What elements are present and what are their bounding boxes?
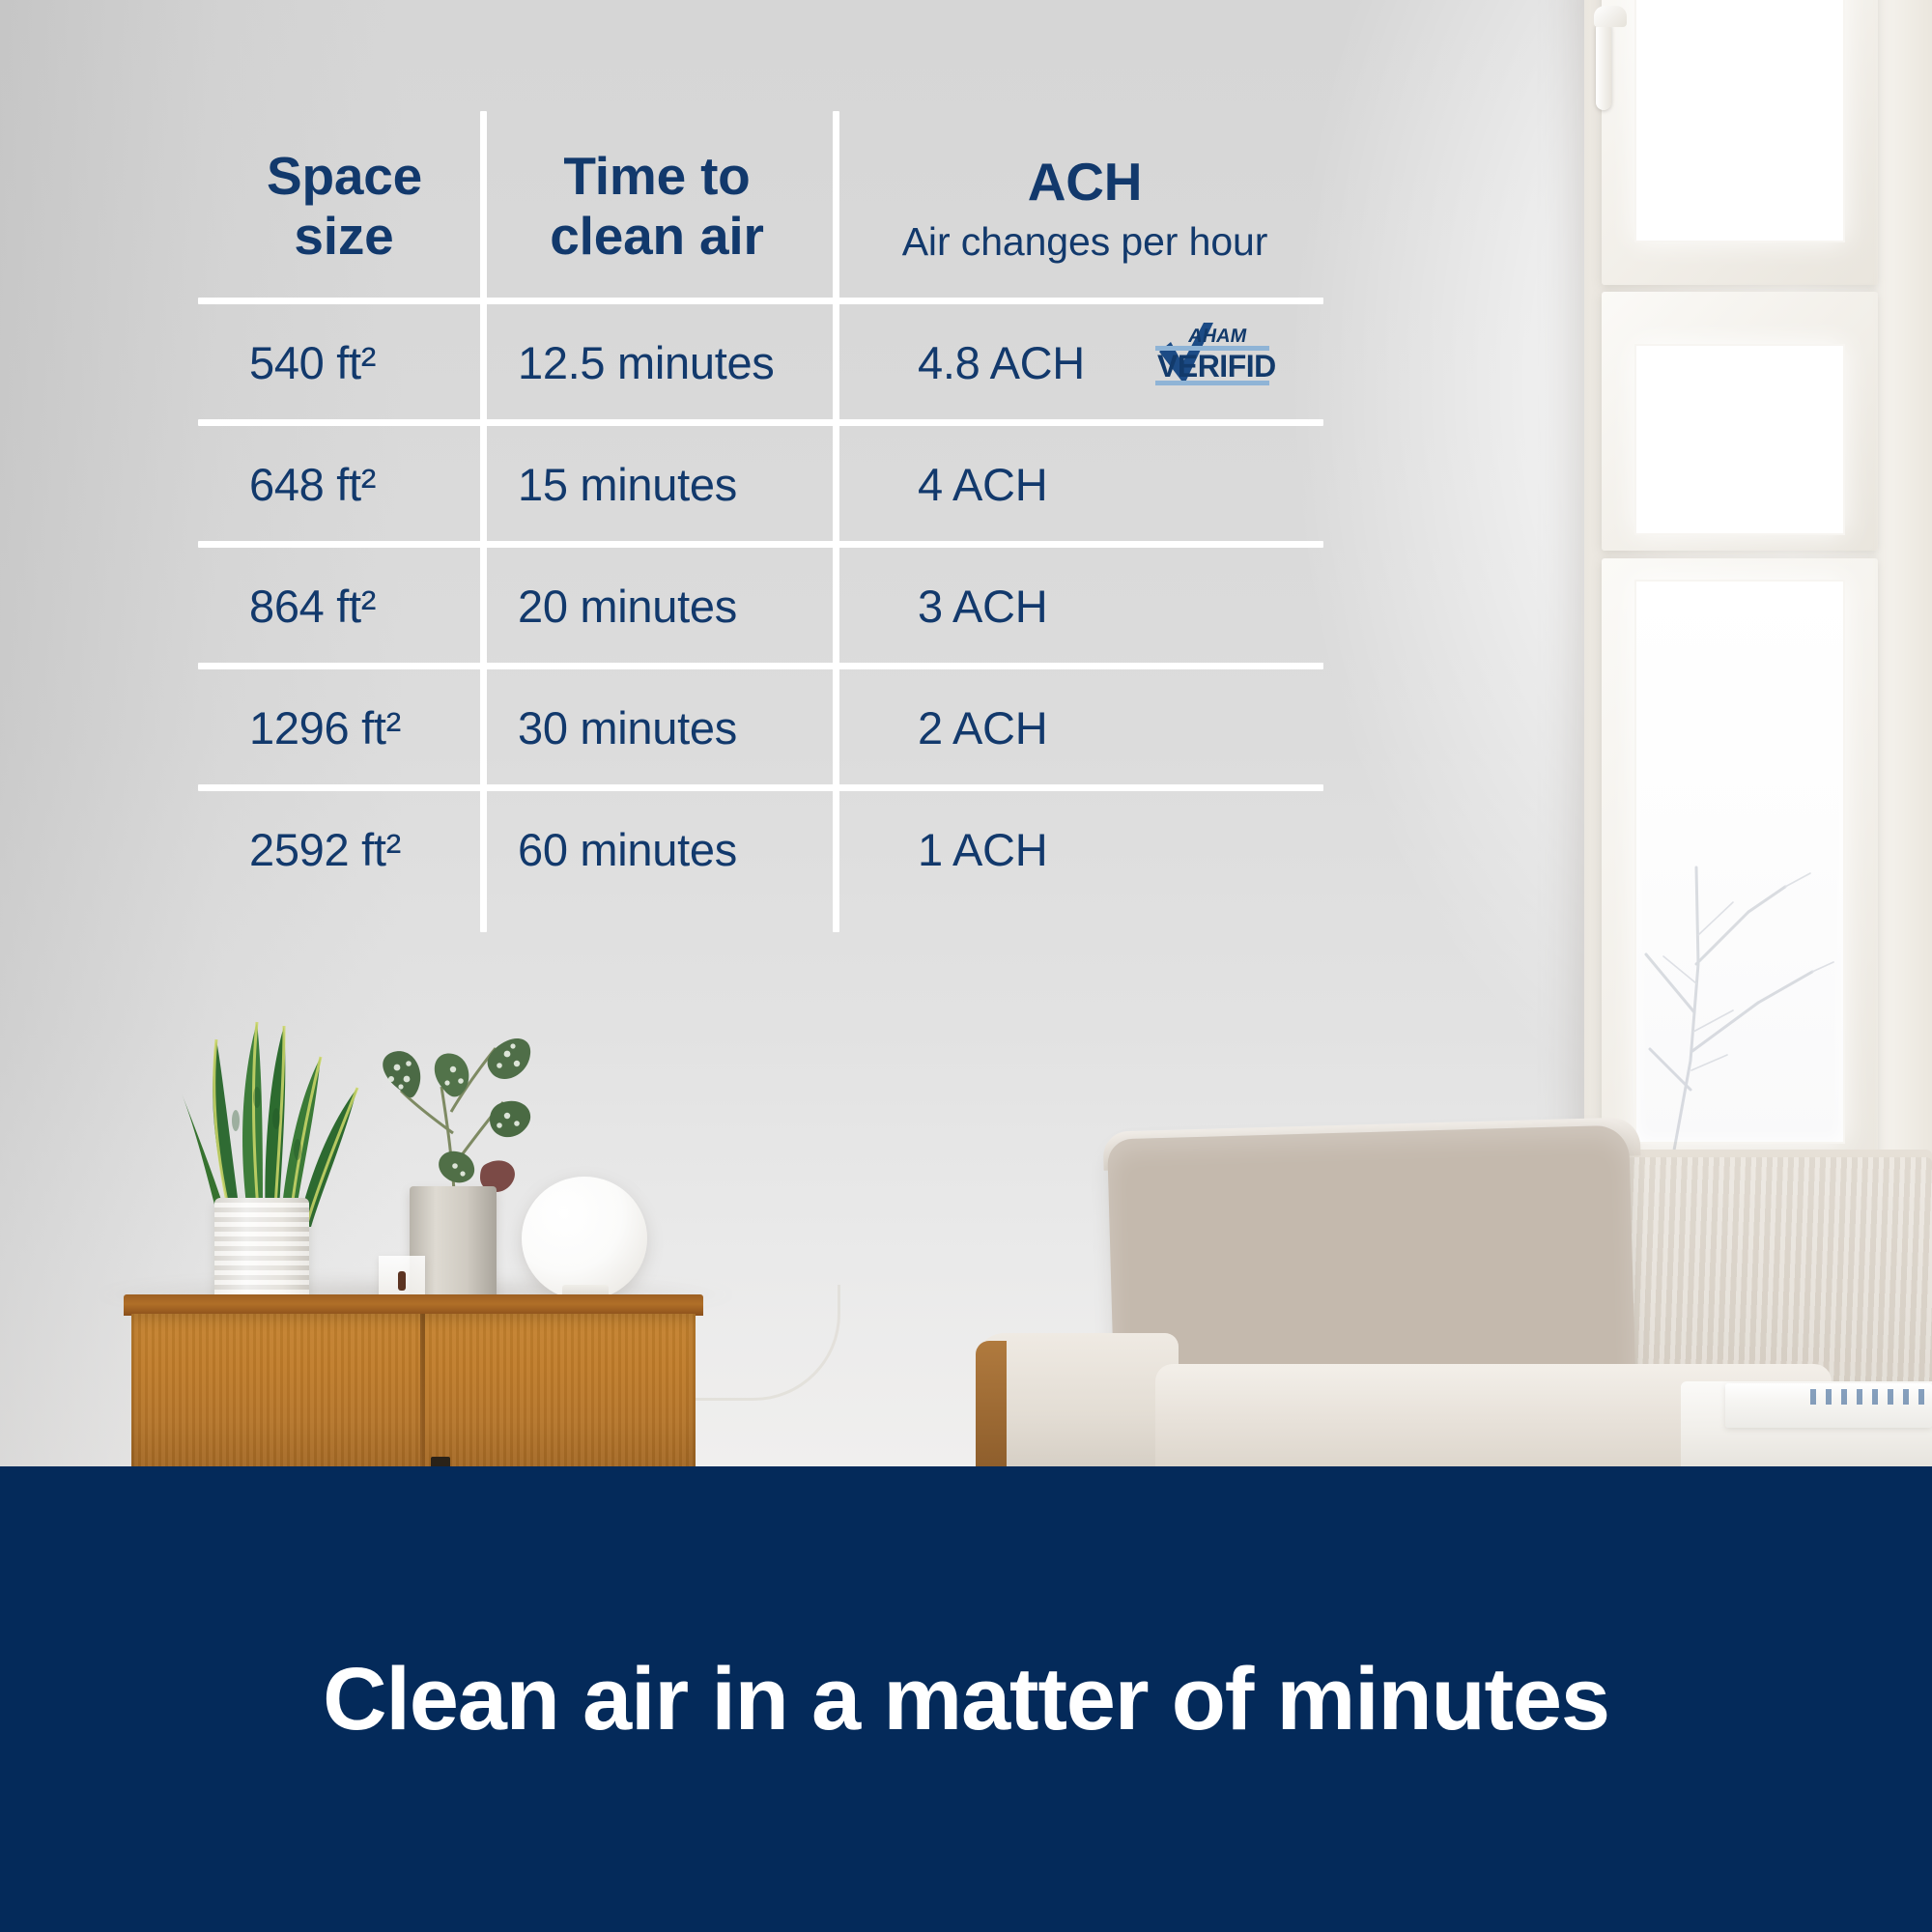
- credenza-top: [124, 1294, 703, 1316]
- window: [1584, 0, 1932, 1217]
- window-pane-upper: [1634, 0, 1845, 242]
- snake-plant-pot: [214, 1198, 309, 1306]
- credenza-doors: [131, 1314, 696, 1466]
- sofa-arm-wood-trim: [976, 1341, 1007, 1466]
- row-divider-2: [198, 541, 1323, 548]
- books-stack: [1725, 1383, 1932, 1428]
- row-divider-1: [198, 419, 1323, 426]
- banner-headline: Clean air in a matter of minutes: [323, 1649, 1609, 1750]
- header-ach: ACH Air changes per hour: [887, 153, 1283, 265]
- table-row-3-space-size: 864 ft²: [249, 582, 376, 633]
- row-divider-header: [198, 298, 1323, 304]
- table-row-2-ach: 4 ACH: [918, 460, 1047, 511]
- window-sash-middle: [1602, 292, 1878, 551]
- table-row-3-time: 20 minutes: [518, 582, 737, 633]
- aham-verifide-badge: AHAM VERIFIDE: [1150, 317, 1275, 390]
- header-ach-title: ACH: [887, 153, 1283, 213]
- window-pane-middle: [1634, 344, 1845, 535]
- wooden-credenza: [124, 1294, 703, 1466]
- table-row-2-space-size: 648 ft²: [249, 460, 376, 511]
- header-ach-subtitle: Air changes per hour: [887, 220, 1283, 265]
- table-row-5-ach: 1 ACH: [918, 825, 1047, 876]
- table-row-1-time: 12.5 minutes: [518, 338, 775, 389]
- table-row-5-space-size: 2592 ft²: [249, 825, 401, 876]
- header-time-line2: clean air: [541, 207, 773, 267]
- table-row-3-ach: 3 ACH: [918, 582, 1047, 633]
- window-handle: [1596, 21, 1611, 110]
- aham-top-word: AHAM: [1187, 326, 1249, 347]
- header-space-size: Space size: [267, 147, 421, 266]
- curtain: [1874, 0, 1932, 1217]
- table-row-4-ach: 2 ACH: [918, 703, 1047, 754]
- table-row-4-space-size: 1296 ft²: [249, 703, 401, 754]
- snake-plant-icon: [174, 1005, 367, 1227]
- row-divider-3: [198, 663, 1323, 669]
- table-row-1-space-size: 540 ft²: [249, 338, 376, 389]
- credenza-handle: [431, 1457, 450, 1466]
- header-time-to-clean-air: Time to clean air: [541, 147, 773, 266]
- row-divider-4: [198, 784, 1323, 791]
- table-row-2-time: 15 minutes: [518, 460, 737, 511]
- column-divider-2: [833, 111, 839, 932]
- credenza-door-gap: [420, 1314, 425, 1466]
- table-row-5-time: 60 minutes: [518, 825, 737, 876]
- clean-air-coverage-table: Space size Time to clean air ACH Air cha…: [0, 0, 1381, 966]
- table-row-1-ach: 4.8 ACH: [918, 338, 1085, 389]
- header-time-line1: Time to: [541, 147, 773, 207]
- begonia-plant-icon: [372, 1019, 546, 1207]
- window-sash-upper: [1602, 0, 1878, 285]
- header-space-line2: size: [267, 207, 421, 267]
- header-space-line1: Space: [267, 147, 421, 207]
- column-divider-1: [480, 111, 487, 932]
- globe-lamp: [522, 1177, 647, 1300]
- aham-bottom-word: VERIFIDE: [1157, 349, 1275, 384]
- bottom-banner: Clean air in a matter of minutes: [0, 1466, 1932, 1932]
- table-row-4-time: 30 minutes: [518, 703, 737, 754]
